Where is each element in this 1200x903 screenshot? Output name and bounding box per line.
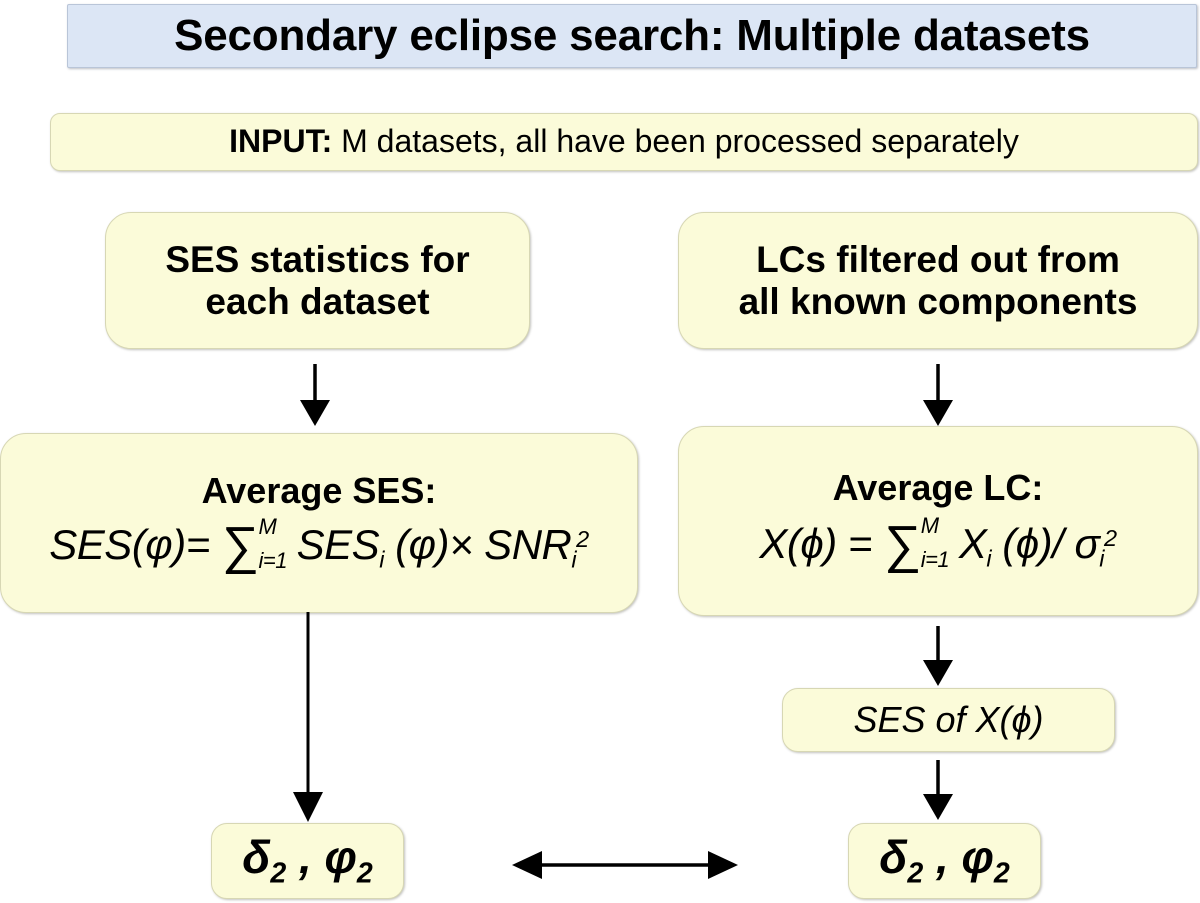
diagram-canvas: Secondary eclipse search: Multiple datas… — [0, 0, 1200, 903]
formula-arg-ses: (φ)× — [384, 521, 473, 568]
outcome-left-delta-sub: 2 — [270, 857, 286, 889]
outcome-right-delta-sub: 2 — [907, 857, 923, 889]
arrow-average-ses-to-outcome-left — [284, 612, 332, 822]
outcome-right-delta: δ — [879, 831, 907, 883]
outcome-left-delta: δ — [242, 831, 270, 883]
formula-lhs-ses: SES(φ)= — [49, 521, 209, 568]
node-lcs-filtered-line2: all known components — [739, 281, 1138, 322]
node-average-lc-heading: Average LC: — [833, 468, 1044, 508]
formula-term-snr: SNR — [473, 521, 571, 568]
node-lcs-filtered-line1: LCs filtered out from — [756, 239, 1120, 280]
diagram-title: Secondary eclipse search: Multiple datas… — [67, 4, 1197, 68]
outcome-right-separator: , — [923, 831, 961, 883]
formula-term-sigma-sup: 2 — [1104, 525, 1117, 551]
input-banner-label: INPUT: — [229, 123, 332, 159]
outcome-right-phi: φ — [962, 831, 994, 883]
arrow-ses-of-x-to-outcome-right — [914, 760, 962, 820]
node-outcome-right: δ2 , φ2 — [848, 823, 1041, 899]
node-average-ses-heading: Average SES: — [202, 471, 437, 511]
node-average-ses-formula: SES(φ)= ∑Mi=1 SESi (φ)× SNRi2 — [49, 517, 588, 575]
formula-term-snr-sup: 2 — [576, 526, 589, 552]
input-banner: INPUT: M datasets, all have been process… — [50, 113, 1198, 171]
summation-lower-limit-ses: i=1 — [258, 549, 286, 574]
arrow-average-lc-to-ses-of-x — [914, 626, 962, 686]
node-average-lc-formula: X(ϕ) = ∑Mi=1 Xi (ϕ)/ σi2 — [759, 516, 1116, 574]
formula-term-x: X — [959, 520, 987, 567]
node-average-lc: Average LC: X(ϕ) = ∑Mi=1 Xi (ϕ)/ σi2 — [678, 426, 1198, 616]
summation-symbol-ses: ∑Mi=1 — [222, 517, 259, 575]
node-ses-statistics-line1: SES statistics for — [165, 239, 469, 280]
outcome-right-phi-sub: 2 — [994, 857, 1010, 889]
node-ses-statistics: SES statistics for each dataset — [105, 212, 530, 349]
summation-lower-limit-lc: i=1 — [921, 548, 949, 573]
node-ses-of-x: SES of X(ϕ) — [782, 688, 1115, 752]
outcome-left-phi: φ — [325, 831, 357, 883]
outcome-left-phi-sub: 2 — [357, 857, 373, 889]
node-ses-statistics-line2: each dataset — [205, 281, 429, 322]
formula-lhs-x: X(ϕ) = — [759, 520, 872, 567]
summation-upper-limit-ses: M — [258, 515, 276, 540]
arrow-double-between-outcomes — [508, 848, 742, 882]
summation-upper-limit-lc: M — [921, 514, 939, 539]
arrow-lcs-filtered-to-average-lc — [914, 364, 962, 426]
node-outcome-left: δ2 , φ2 — [211, 823, 404, 899]
input-banner-text: M datasets, all have been processed sepa… — [332, 123, 1019, 159]
summation-symbol-lc: ∑Mi=1 — [884, 516, 921, 574]
formula-term-ses: SES — [297, 521, 380, 568]
formula-term-sigma: σ — [1063, 520, 1099, 567]
outcome-left-separator: , — [286, 831, 324, 883]
node-average-ses: Average SES: SES(φ)= ∑Mi=1 SESi (φ)× SNR… — [0, 433, 638, 613]
formula-arg-x: (ϕ)/ — [991, 520, 1063, 567]
node-lcs-filtered: LCs filtered out from all known componen… — [678, 212, 1198, 349]
arrow-ses-stats-to-average-ses — [291, 364, 339, 426]
